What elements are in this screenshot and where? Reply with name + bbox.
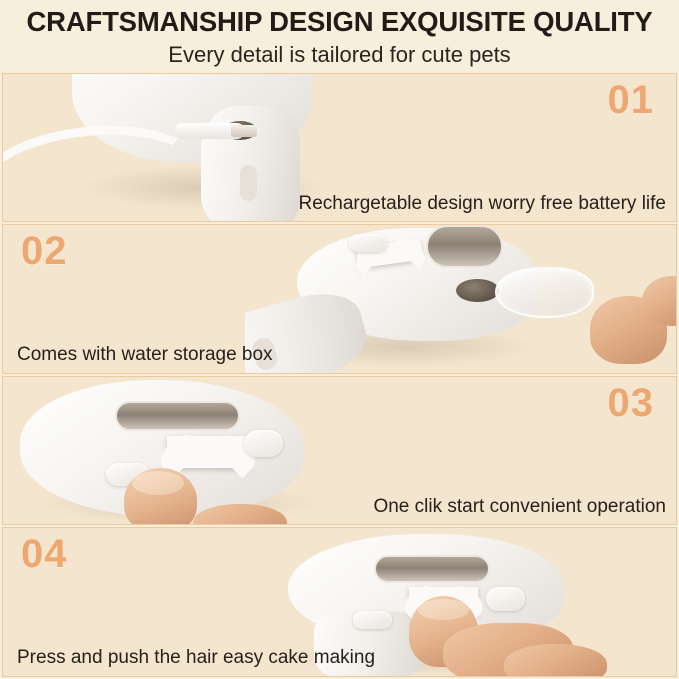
feature-panel-02: 02 Comes with water storage box bbox=[2, 224, 677, 374]
product-feature-infographic: CRAFTSMANSHIP DESIGN EXQUISITE QUALITY E… bbox=[0, 0, 679, 679]
panel-caption-03: One clik start convenient operation bbox=[373, 496, 666, 519]
product-photo-02 bbox=[245, 225, 676, 373]
product-photo-03 bbox=[3, 377, 434, 525]
page-title: CRAFTSMANSHIP DESIGN EXQUISITE QUALITY bbox=[0, 6, 679, 38]
device-illustration-water-box bbox=[245, 225, 676, 373]
panel-number-badge-01: 01 bbox=[608, 78, 655, 122]
panel-caption-02: Comes with water storage box bbox=[17, 344, 273, 367]
header: CRAFTSMANSHIP DESIGN EXQUISITE QUALITY E… bbox=[0, 0, 679, 73]
panel-number-badge-03: 03 bbox=[608, 381, 655, 425]
feature-panel-04: 04 Press and push the hair easy cake mak… bbox=[2, 527, 677, 677]
device-illustration-one-click bbox=[3, 377, 434, 525]
panel-caption-04: Press and push the hair easy cake making bbox=[17, 647, 375, 670]
feature-panel-list: 01 Rechargetable design worry free batte… bbox=[0, 73, 679, 679]
panel-number-badge-04: 04 bbox=[21, 532, 68, 576]
panel-number-badge-02: 02 bbox=[21, 229, 68, 273]
feature-panel-01: 01 Rechargetable design worry free batte… bbox=[2, 73, 677, 223]
page-subtitle: Every detail is tailored for cute pets bbox=[0, 41, 679, 69]
panel-caption-01: Rechargetable design worry free battery … bbox=[298, 193, 666, 216]
feature-panel-03: 03 One clik start convenient operation bbox=[2, 376, 677, 526]
